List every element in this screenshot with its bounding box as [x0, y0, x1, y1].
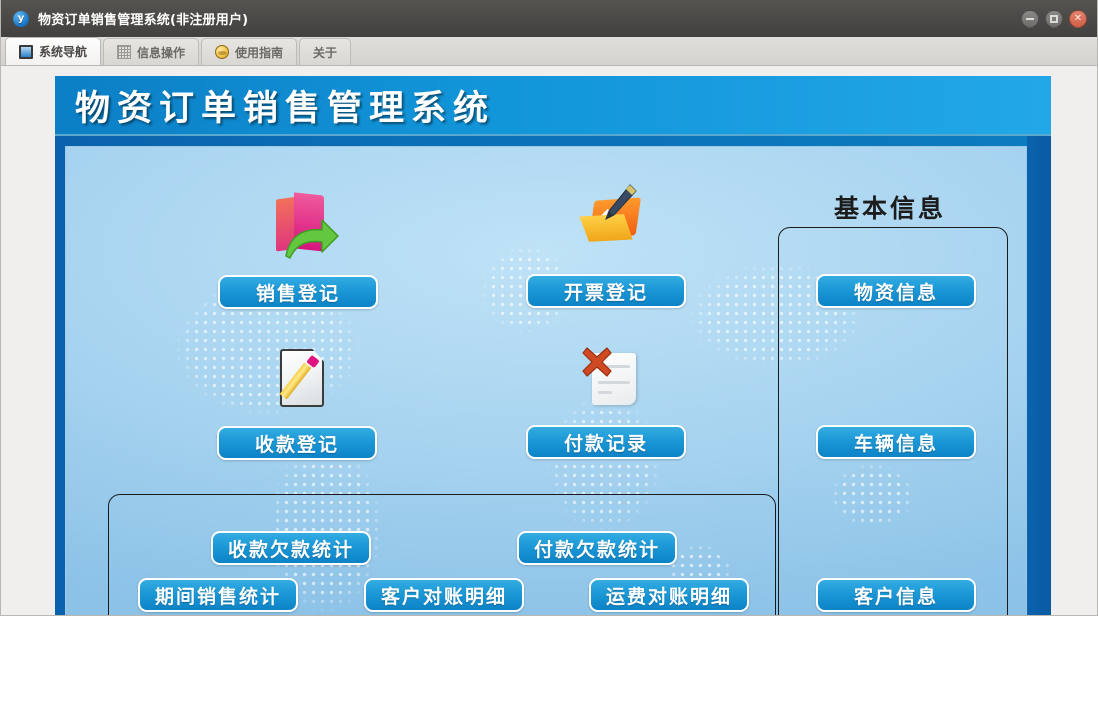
button-label: 期间销售统计: [155, 582, 281, 609]
tab-about[interactable]: 关于: [299, 38, 351, 65]
red-x-icon: [580, 345, 614, 379]
minimize-button[interactable]: [1021, 10, 1039, 28]
window-controls: ✕: [1021, 10, 1087, 28]
tab-label: 信息操作: [137, 44, 185, 61]
pink-book-green-arrow-icon: [264, 192, 342, 268]
button-receivable-statistics[interactable]: 收款欠款统计: [211, 531, 371, 565]
tab-system-navigation[interactable]: 系统导航: [5, 37, 101, 65]
button-payment-record[interactable]: 付款记录: [526, 425, 686, 459]
minimize-icon: [1026, 18, 1034, 20]
app-logo-icon: y: [13, 11, 29, 27]
button-freight-reconciliation-detail[interactable]: 运费对账明细: [589, 578, 749, 612]
button-label: 运费对账明细: [606, 582, 732, 609]
button-payable-statistics[interactable]: 付款欠款统计: [517, 531, 677, 565]
button-label: 车辆信息: [854, 429, 938, 456]
grid-icon: [117, 45, 131, 59]
window-title: 物资订单销售管理系统(非注册用户): [38, 9, 248, 28]
tab-user-guide[interactable]: 使用指南: [201, 38, 297, 65]
button-period-sales-statistics[interactable]: 期间销售统计: [138, 578, 298, 612]
button-label: 客户信息: [854, 582, 938, 609]
title-bar: y 物资订单销售管理系统(非注册用户) ✕: [1, 0, 1097, 37]
close-icon: ✕: [1074, 14, 1082, 24]
page-background: [0, 616, 1098, 719]
tab-info-operations[interactable]: 信息操作: [103, 38, 199, 65]
tab-bar: 系统导航 信息操作 使用指南 关于: [1, 37, 1097, 66]
client-area: 物资订单销售管理系统 销售登记: [1, 66, 1097, 615]
button-customer-info[interactable]: 客户信息: [816, 578, 976, 612]
button-receipt-registration[interactable]: 收款登记: [217, 426, 377, 460]
button-label: 收款登记: [255, 430, 339, 457]
button-sales-registration[interactable]: 销售登记: [218, 275, 378, 309]
document-pencil-icon: [264, 343, 342, 419]
button-label: 销售登记: [256, 279, 340, 306]
button-customer-reconciliation-detail[interactable]: 客户对账明细: [364, 578, 524, 612]
globe-icon: [215, 45, 229, 59]
button-label: 客户对账明细: [381, 582, 507, 609]
green-arrow-icon: [280, 214, 340, 264]
button-label: 付款欠款统计: [534, 535, 660, 562]
tab-label: 使用指南: [235, 44, 283, 61]
tab-label: 关于: [313, 44, 337, 61]
button-label: 付款记录: [564, 429, 648, 456]
button-label: 物资信息: [854, 278, 938, 305]
close-button[interactable]: ✕: [1069, 10, 1087, 28]
pen-icon: [600, 183, 640, 225]
maximize-button[interactable]: [1045, 10, 1063, 28]
orange-folder-pen-icon: [574, 189, 652, 265]
button-invoice-registration[interactable]: 开票登记: [526, 274, 686, 308]
navigation-stage: 销售登记 开票登记: [65, 146, 1027, 615]
application-window: y 物资订单销售管理系统(非注册用户) ✕ 系统导航 信息操作 使用指南 关于: [0, 0, 1098, 616]
banner: 物资订单销售管理系统: [55, 76, 1051, 136]
document-red-x-icon: [574, 341, 652, 417]
banner-title: 物资订单销售管理系统: [75, 80, 495, 131]
panel-frame: 销售登记 开票登记: [55, 136, 1051, 615]
button-label: 收款欠款统计: [228, 535, 354, 562]
tab-label: 系统导航: [39, 43, 87, 60]
basic-info-title: 基本信息: [834, 189, 946, 225]
navigation-panel: 物资订单销售管理系统 销售登记: [55, 76, 1051, 615]
monitor-icon: [19, 45, 33, 59]
maximize-icon: [1050, 15, 1058, 23]
button-label: 开票登记: [564, 278, 648, 305]
button-material-info[interactable]: 物资信息: [816, 274, 976, 308]
button-vehicle-info[interactable]: 车辆信息: [816, 425, 976, 459]
